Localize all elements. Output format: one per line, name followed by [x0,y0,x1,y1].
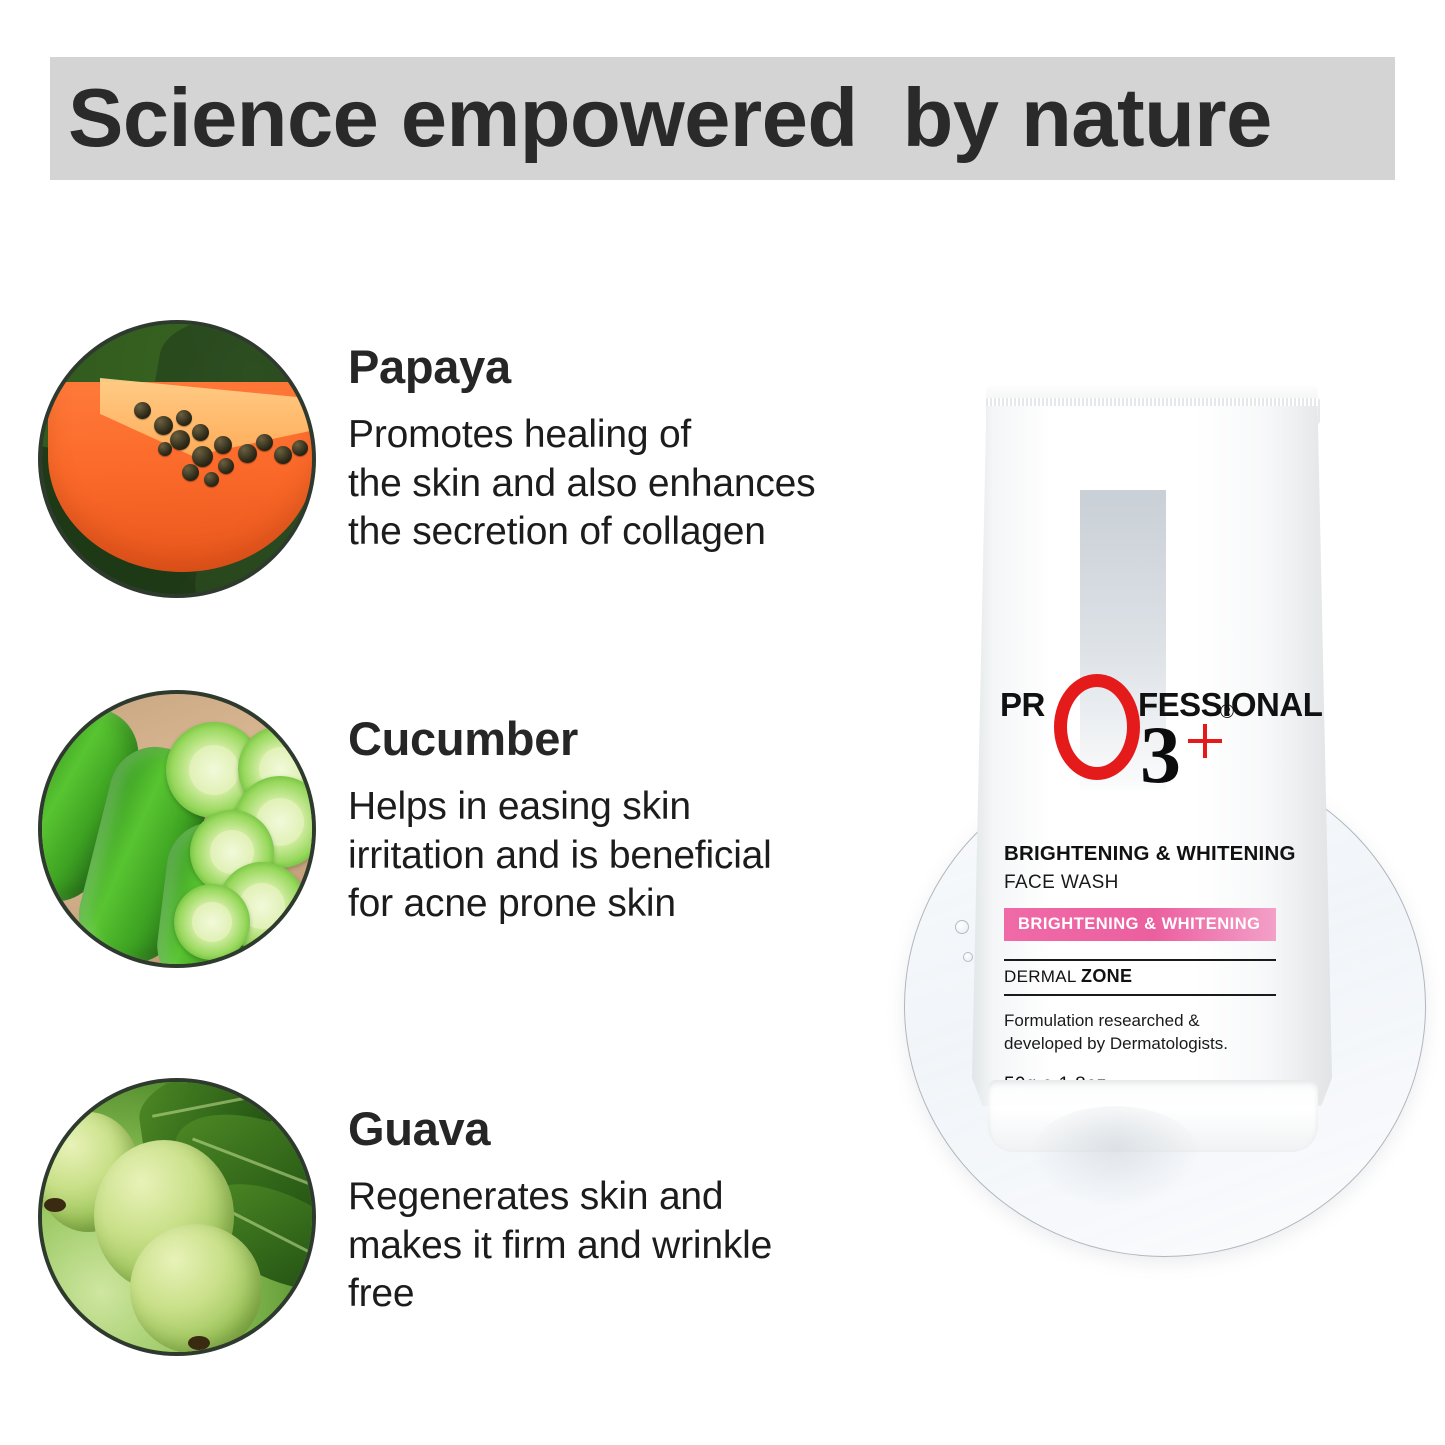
cucumber-background [42,694,312,964]
papaya-background [42,324,312,594]
papaya-seed [274,446,292,464]
papaya-seed [182,464,199,481]
papaya-seed [256,434,273,451]
brand-numeral: 3 [1140,714,1181,796]
brand-plus-icon [1188,724,1222,758]
papaya-seed [192,446,213,467]
guava-background [42,1082,312,1352]
papaya-seed [218,458,234,474]
cucumber-image [38,690,316,968]
cucumber-slice [174,884,250,960]
papaya-seed [292,440,308,456]
brand-logo: PR FESSIONAL 3 ® [992,680,1322,810]
brand-prefix: PR [1000,686,1045,724]
papaya-seed [170,430,190,450]
gel-bubble [955,920,969,934]
product-infographic-page: Science empowered by nature [0,0,1445,1445]
papaya-seed [154,416,173,435]
guava-fruit [130,1224,262,1354]
papaya-seed [214,436,232,454]
page-title: Science empowered by nature [68,62,1388,174]
guava-image [38,1078,316,1356]
papaya-seed [238,444,257,463]
registered-mark: ® [1220,702,1234,724]
papaya-seed [134,402,151,419]
product-title: BRIGHTENING & WHITENING [1004,842,1304,866]
papaya-image [38,320,316,598]
papaya-seed [204,472,219,487]
dermal-zone-block: DERMAL ZONE [1004,959,1276,996]
product-variant-band: BRIGHTENING & WHITENING [1004,908,1276,941]
dermatologist-note: Formulation researched & developed by De… [1004,1010,1304,1056]
papaya-seed [176,410,192,426]
dermal-zone-word: DERMAL [1004,967,1081,986]
brand-o-ring-icon [1054,674,1140,780]
dermal-zone-label: DERMAL ZONE [1004,961,1276,991]
divider-rule [1004,994,1276,996]
tube-base-shadow [1030,1106,1200,1206]
papaya-seed [158,442,172,456]
product-subtitle: FACE WASH [1004,872,1304,894]
product-shot: PR FESSIONAL 3 ® BRIGHTENING & WHITENING… [880,380,1440,1300]
product-tube: PR FESSIONAL 3 ® BRIGHTENING & WHITENING… [972,380,1332,1140]
product-label-block: BRIGHTENING & WHITENING FACE WASH BRIGHT… [1004,842,1304,1096]
product-variant-text: BRIGHTENING & WHITENING [1018,915,1276,934]
zone-word: ZONE [1081,966,1132,986]
papaya-seed [192,424,209,441]
